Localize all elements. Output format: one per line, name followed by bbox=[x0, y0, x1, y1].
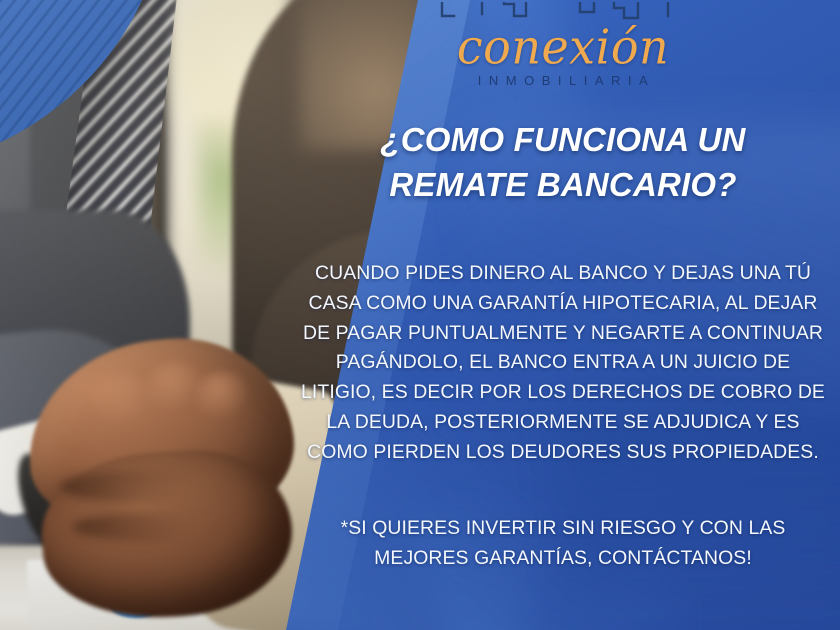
call-to-action: *SI QUIERES INVERTIR SIN RIESGO Y CON LA… bbox=[298, 514, 828, 574]
headline: ¿COMO FUNCIONA UN REMATE BANCARIO? bbox=[328, 118, 798, 206]
body-paragraph: CUANDO PIDES DINERO AL BANCO Y DEJAS UNA… bbox=[298, 259, 828, 468]
brand-script-name: conexión bbox=[457, 25, 669, 69]
content-column: conexión INMOBILIARIA ¿COMO FUNCIONA UN … bbox=[286, 0, 840, 630]
corner-shape-shading bbox=[0, 0, 168, 172]
brand-subtitle: INMOBILIARIA bbox=[478, 73, 655, 88]
brand-logo: conexión INMOBILIARIA bbox=[398, 2, 728, 88]
decorative-corner-shape bbox=[0, 0, 168, 172]
poster-canvas: conexión INMOBILIARIA ¿COMO FUNCIONA UN … bbox=[0, 0, 840, 630]
